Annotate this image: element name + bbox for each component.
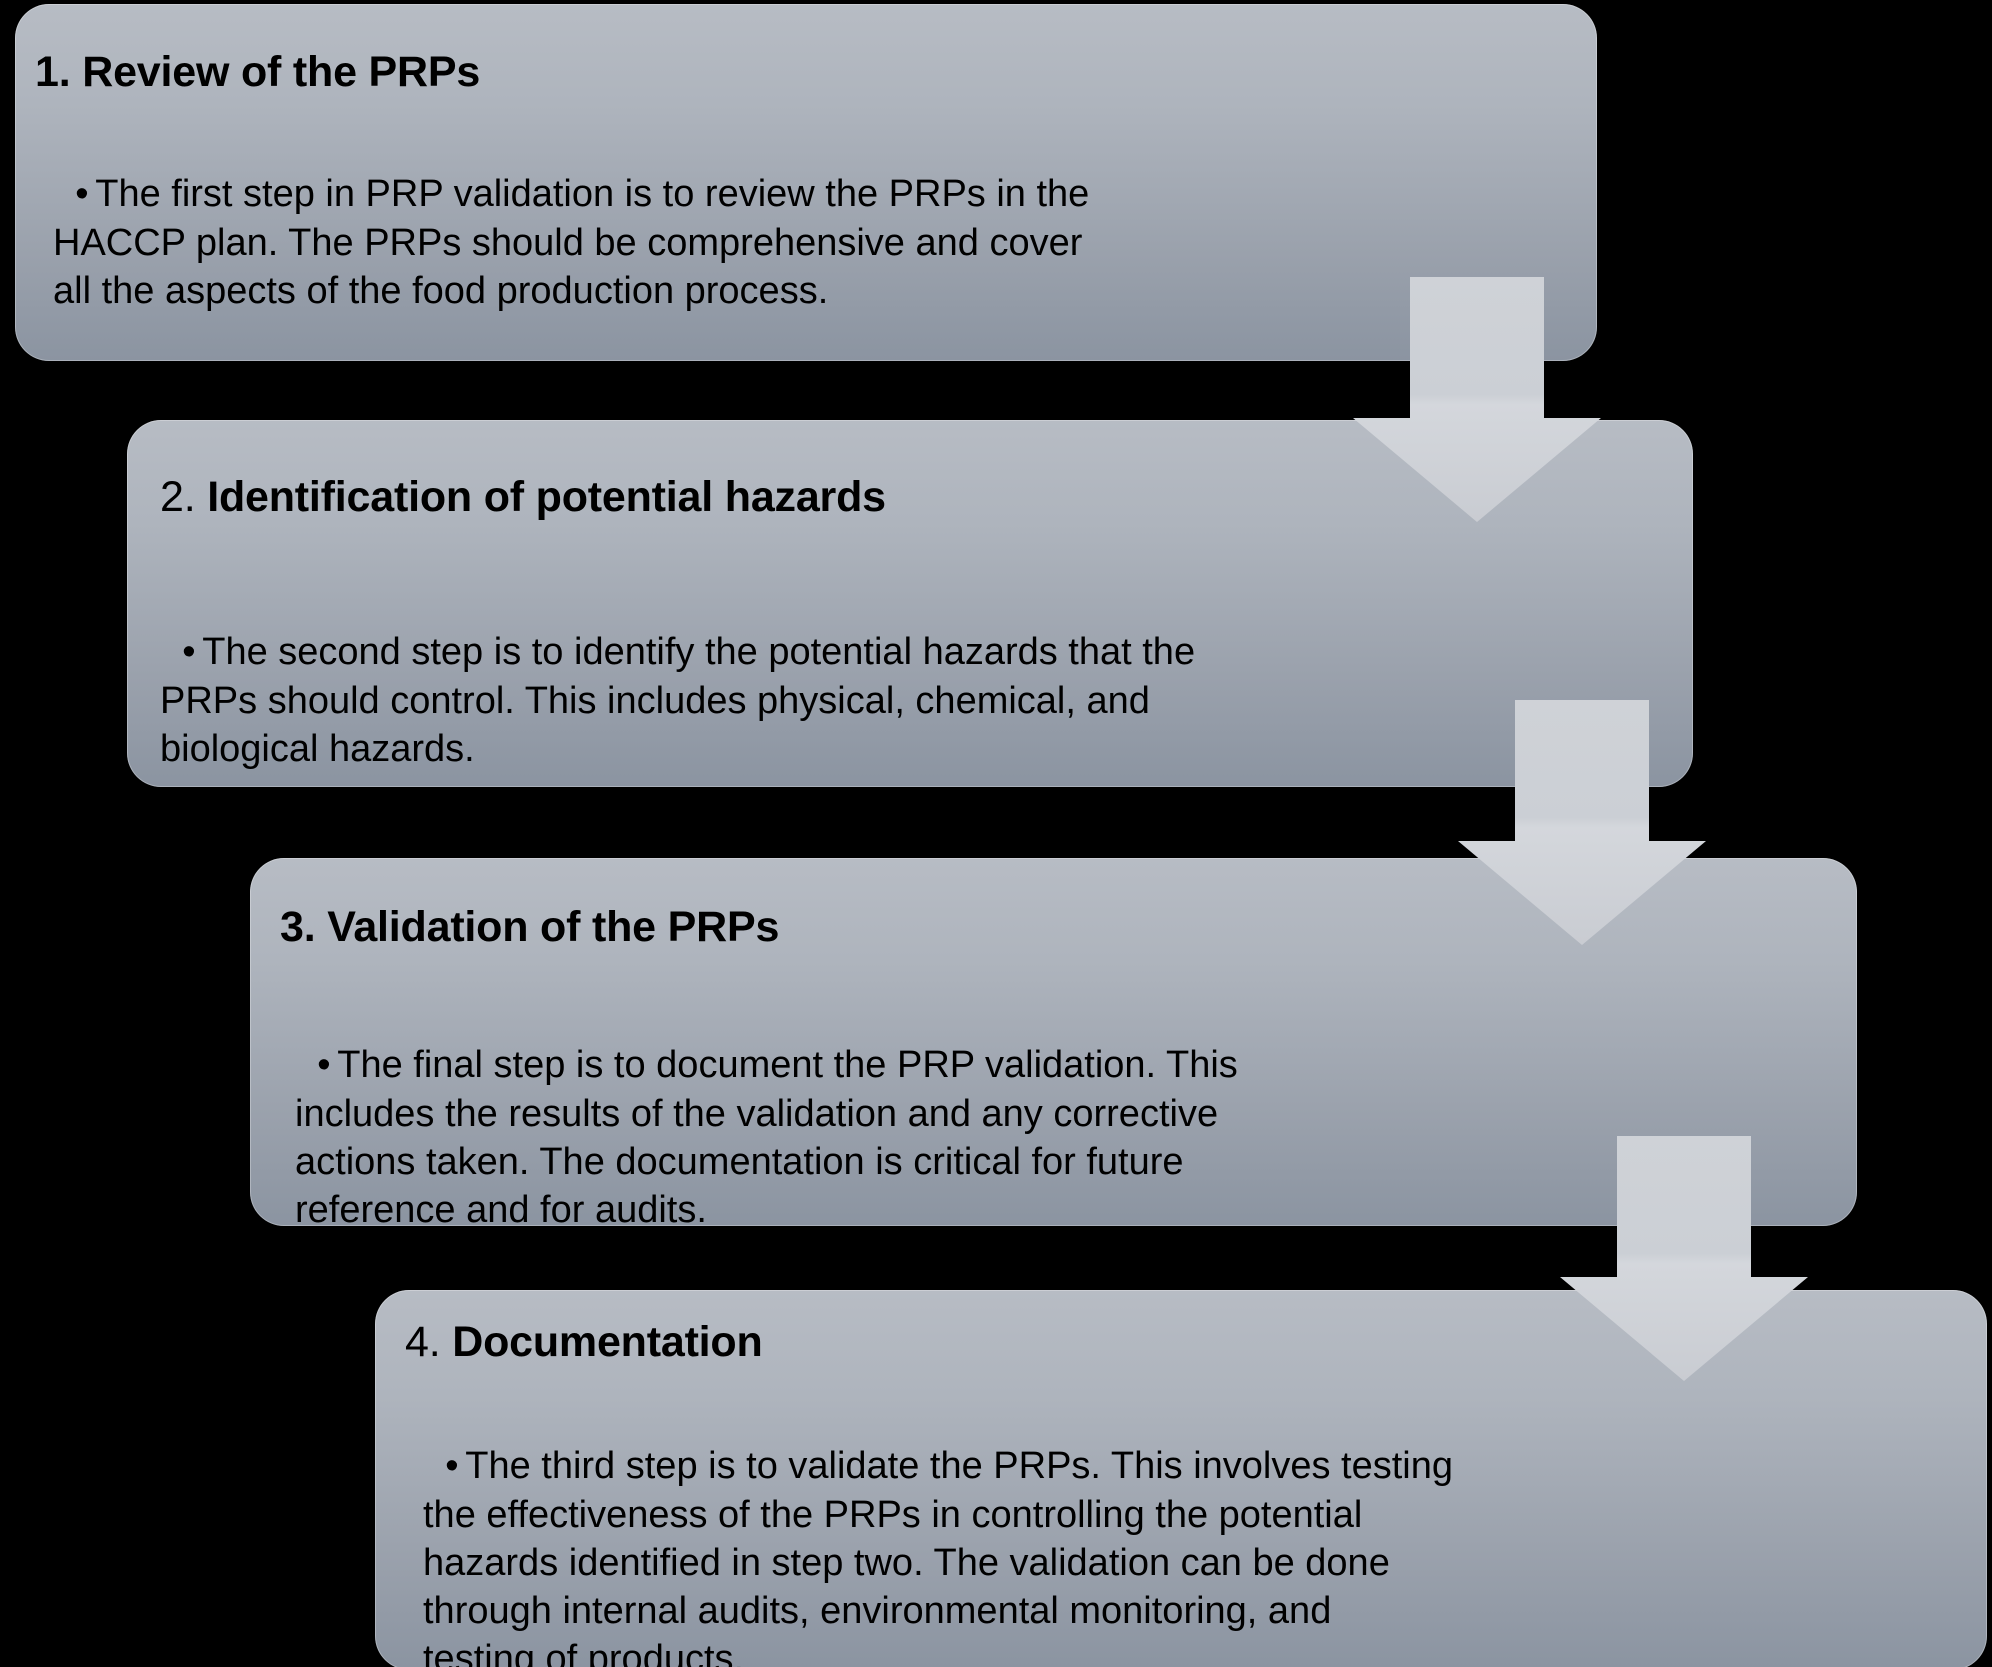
step-title-1: 1. Review of the PRPs: [35, 48, 480, 97]
step-body-3: •The final step is to document the PRP v…: [295, 993, 1475, 1283]
step-title-4: 4. Documentation: [405, 1318, 763, 1367]
step-body-4: •The third step is to validate the PRPs.…: [423, 1394, 1623, 1667]
step-title-text-2: Identification of potential hazards: [207, 473, 886, 521]
bullet-icon-3: •: [317, 1041, 337, 1089]
step-title-text-4: Documentation: [452, 1318, 762, 1366]
step-body-text-4: The third step is to validate the PRPs. …: [423, 1445, 1453, 1667]
step-body-1: •The first step in PRP validation is to …: [53, 122, 1203, 363]
step-title-2: 2. Identification of potential hazards: [160, 473, 886, 522]
bullet-icon-1: •: [75, 170, 95, 218]
bullet-icon-2: •: [182, 628, 202, 676]
step-number-4: 4.: [405, 1318, 452, 1366]
step-title-text-3: Validation of the PRPs: [327, 903, 779, 951]
step-title-3: 3. Validation of the PRPs: [280, 903, 779, 952]
step-body-text-3: The final step is to document the PRP va…: [295, 1044, 1238, 1231]
diagram-canvas: 1. Review of the PRPs •The first step in…: [0, 0, 1992, 1667]
bullet-icon-4: •: [445, 1442, 465, 1490]
step-number-3: 3.: [280, 903, 327, 951]
step-title-text-1: Review of the PRPs: [82, 48, 480, 96]
step-number-2: 2.: [160, 473, 207, 521]
step-body-text-2: The second step is to identify the poten…: [160, 631, 1195, 770]
step-body-2: •The second step is to identify the pote…: [160, 580, 1340, 821]
step-number-1: 1.: [35, 48, 82, 96]
step-body-text-1: The first step in PRP validation is to r…: [53, 173, 1089, 312]
